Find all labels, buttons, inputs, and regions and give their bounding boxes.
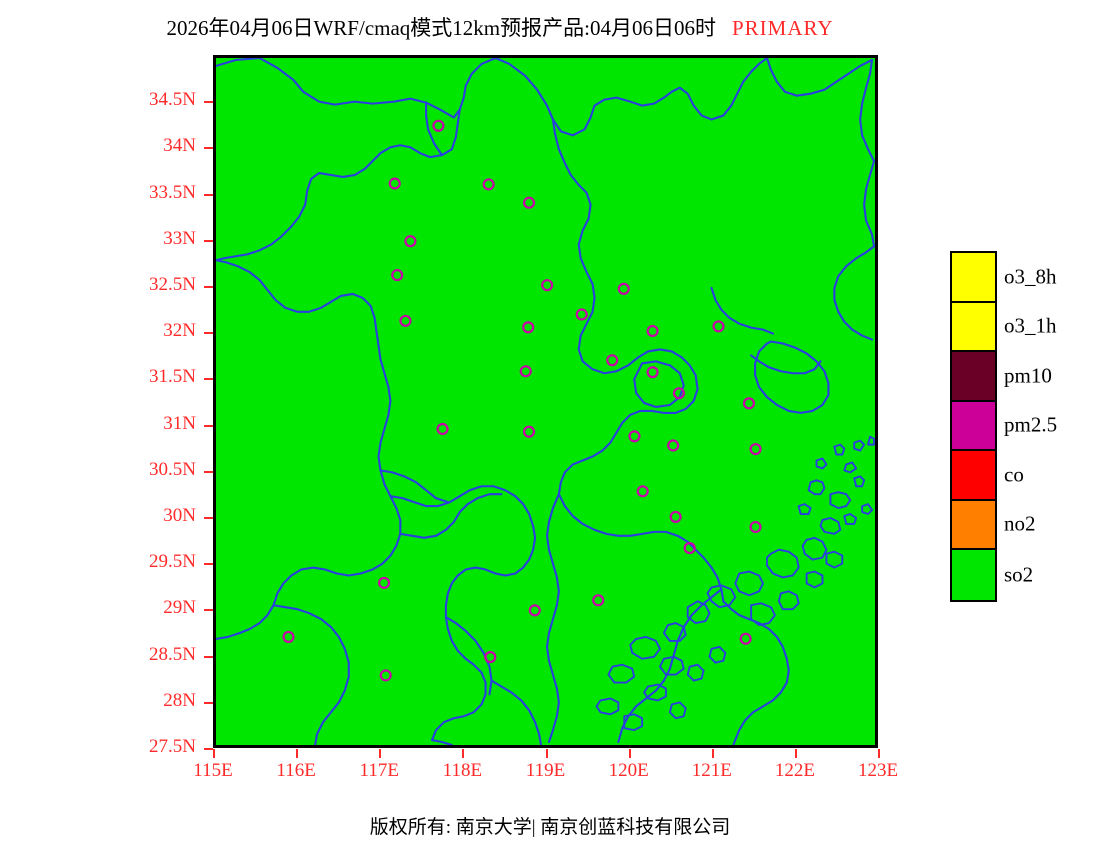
y-axis-label: 28.5N [0,644,196,666]
x-axis-label: 115E [173,760,253,782]
station-marker[interactable] [523,322,533,332]
station-marker[interactable] [381,670,391,680]
map-plot-area[interactable] [213,55,878,748]
x-axis-label: 117E [339,760,419,782]
station-marker[interactable] [714,321,724,331]
station-marker[interactable] [521,366,531,376]
x-axis-tick [546,749,548,758]
legend-swatch [952,303,995,351]
x-axis-label: 122E [755,760,835,782]
legend-item-pm2-5[interactable]: pm2.5 [952,402,995,452]
station-marker[interactable] [751,522,761,532]
y-axis-tick [204,563,213,565]
station-marker[interactable] [524,427,534,437]
station-marker[interactable] [607,355,617,365]
legend-label: pm10 [1004,363,1052,388]
y-axis-tick [204,240,213,242]
station-marker[interactable] [668,441,678,451]
legend-item-pm10[interactable]: pm10 [952,352,995,402]
y-axis-tick [204,286,213,288]
legend-label: o3_8h [1004,264,1057,289]
x-axis-label: 118E [422,760,502,782]
y-axis-label: 29N [0,597,196,619]
chart-title-text: 2026年04月06日WRF/cmaq模式12km预报产品:04月06日06时 [166,16,716,40]
legend-swatch [952,550,995,600]
station-marker[interactable] [392,270,402,280]
x-axis-tick [795,749,797,758]
legend-item-no2[interactable]: no2 [952,501,995,551]
chart-title: 2026年04月06日WRF/cmaq模式12km预报产品:04月06日06时P… [0,12,1000,42]
y-axis-tick [204,748,213,750]
y-axis-label: 33N [0,228,196,250]
legend-swatch [952,501,995,549]
y-axis-label: 31.5N [0,366,196,388]
station-marker[interactable] [741,634,751,644]
y-axis-tick [204,609,213,611]
station-marker[interactable] [638,486,648,496]
legend-label: so2 [1004,562,1033,587]
y-axis-label: 31N [0,413,196,435]
legend-item-o3-8h[interactable]: o3_8h [952,253,995,303]
x-axis-tick [629,749,631,758]
y-axis-tick [204,332,213,334]
legend-item-so2[interactable]: so2 [952,550,995,600]
x-axis-label: 116E [256,760,336,782]
legend-swatch [952,451,995,499]
y-axis-label: 27.5N [0,736,196,758]
station-marker[interactable] [433,121,443,131]
pollutant-legend[interactable]: o3_8ho3_1hpm10pm2.5cono2so2 [950,251,997,602]
y-axis-tick [204,425,213,427]
y-axis-label: 33.5N [0,182,196,204]
station-markers [284,121,761,681]
station-marker[interactable] [593,595,603,605]
x-axis-tick [878,749,880,758]
x-axis-label: 120E [589,760,669,782]
y-axis-tick [204,471,213,473]
y-axis-tick [204,702,213,704]
x-axis-tick [462,749,464,758]
province-boundaries [216,58,874,745]
x-axis-tick [712,749,714,758]
x-axis-tick [213,749,215,758]
station-marker[interactable] [751,444,761,454]
station-marker[interactable] [485,652,495,662]
primary-pollutant-tag: PRIMARY [716,16,834,40]
y-axis-label: 32N [0,320,196,342]
y-axis-label: 29.5N [0,551,196,573]
x-axis-label: 123E [838,760,918,782]
x-axis-label: 121E [672,760,752,782]
y-axis-tick [204,517,213,519]
y-axis-tick [204,656,213,658]
station-marker[interactable] [530,605,540,615]
legend-swatch [952,402,995,450]
y-axis-tick [204,378,213,380]
station-marker[interactable] [484,179,494,189]
legend-item-o3-1h[interactable]: o3_1h [952,303,995,353]
station-marker[interactable] [438,424,448,434]
legend-label: co [1004,462,1024,487]
y-axis-label: 34N [0,135,196,157]
station-marker[interactable] [405,236,415,246]
station-marker[interactable] [648,367,658,377]
station-marker[interactable] [390,179,400,189]
station-marker[interactable] [284,632,294,642]
station-marker[interactable] [619,284,629,294]
y-axis-label: 28N [0,690,196,712]
y-axis-label: 34.5N [0,89,196,111]
x-axis-tick [379,749,381,758]
station-marker[interactable] [577,310,587,320]
map-svg [216,58,875,745]
station-marker[interactable] [648,326,658,336]
station-marker[interactable] [524,198,534,208]
legend-swatch [952,253,995,301]
y-axis-label: 30N [0,505,196,527]
y-axis-tick [204,101,213,103]
station-marker[interactable] [671,512,681,522]
y-axis-label: 32.5N [0,274,196,296]
x-axis-label: 119E [506,760,586,782]
station-marker[interactable] [630,431,640,441]
legend-swatch [952,352,995,400]
legend-label: o3_1h [1004,314,1057,339]
legend-item-co[interactable]: co [952,451,995,501]
station-marker[interactable] [542,280,552,290]
legend-label: no2 [1004,512,1036,537]
station-marker[interactable] [401,316,411,326]
y-axis-tick [204,194,213,196]
x-axis-tick [296,749,298,758]
y-axis-label: 30.5N [0,459,196,481]
station-marker[interactable] [379,578,389,588]
y-axis-tick [204,147,213,149]
station-marker[interactable] [744,398,754,408]
legend-label: pm2.5 [1004,413,1057,438]
copyright-footer: 版权所有: 南京大学| 南京创蓝科技有限公司 [0,812,1100,839]
